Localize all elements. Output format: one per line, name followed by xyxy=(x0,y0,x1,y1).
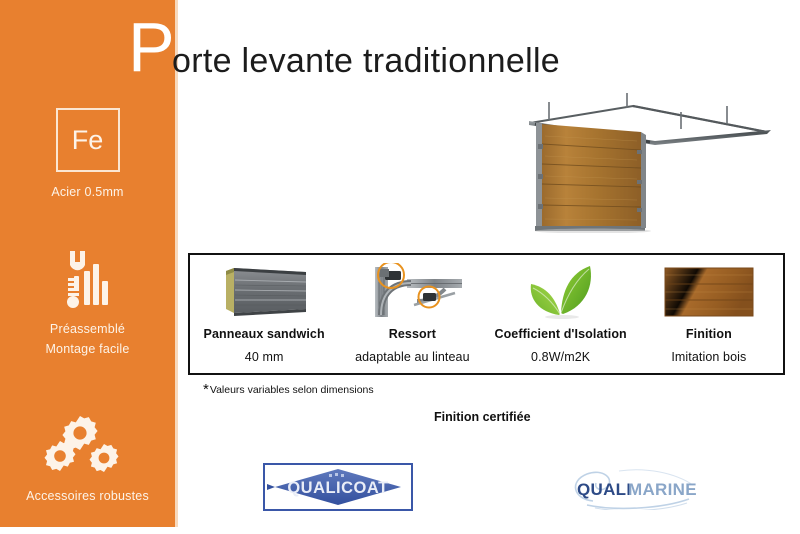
spring-mechanism-image xyxy=(359,261,465,323)
page-title-dropcap: P xyxy=(128,12,175,82)
qualicoat-logo: QUALICOAT xyxy=(263,463,413,511)
qualicoat-wordmark: QUALICOAT xyxy=(287,479,388,497)
page-title-text: orte levante traditionnelle xyxy=(172,44,560,78)
footnote: *Valeurs variables selon dimensions xyxy=(203,381,374,398)
sandwich-panel-swatch xyxy=(208,261,320,323)
sidebar-item-label-preassemble: Préassemblé xyxy=(0,319,175,339)
footnote-text: Valeurs variables selon dimensions xyxy=(210,384,374,396)
feature-value: 0.8W/m2K xyxy=(531,350,590,364)
green-leaves-icon xyxy=(522,261,600,323)
garage-sectional-door-image xyxy=(505,88,790,233)
wrench-tools-icon xyxy=(0,245,175,311)
qualimarine-wordmark-light: MARINE xyxy=(628,480,697,499)
sidebar-item-preassemble[interactable]: Préassemblé Montage facile xyxy=(0,245,175,359)
feature-coefficient-isolation: Coefficient d'Isolation 0.8W/m2K xyxy=(487,255,635,373)
qualimarine-wordmark-bold: QUALI xyxy=(577,480,631,499)
feature-value: Imitation bois xyxy=(671,350,746,364)
feature-panneaux-sandwich: Panneaux sandwich 40 mm xyxy=(190,255,338,373)
feature-title: Ressort xyxy=(389,327,436,341)
sidebar-item-label-montage: Montage facile xyxy=(0,339,175,359)
sidebar-item-acier[interactable]: Fe Acier 0.5mm xyxy=(0,108,175,202)
qualimarine-logo: QUALI MARINE xyxy=(563,465,713,510)
fe-square-icon: Fe xyxy=(56,108,120,172)
sidebar-item-accessoires[interactable]: Accessoires robustes xyxy=(0,412,175,506)
certification-heading: Finition certifiée xyxy=(434,410,531,424)
feature-value: adaptable au linteau xyxy=(355,350,470,364)
feature-ressort: Ressort adaptable au linteau xyxy=(338,255,486,373)
feature-title: Panneaux sandwich xyxy=(204,327,325,341)
wood-texture-swatch xyxy=(662,261,756,323)
feature-title: Finition xyxy=(686,327,732,341)
feature-title: Coefficient d'Isolation xyxy=(494,327,626,341)
page-title: P orte levante traditionnelle xyxy=(128,18,688,80)
fe-symbol: Fe xyxy=(72,127,104,154)
sidebar-item-label-acier: Acier 0.5mm xyxy=(0,182,175,202)
feature-value: 40 mm xyxy=(245,350,284,364)
footnote-marker: * xyxy=(203,381,209,398)
sidebar-item-label-accessoires: Accessoires robustes xyxy=(0,486,175,506)
feature-finition: Finition Imitation bois xyxy=(635,255,783,373)
features-box: Panneaux sandwich 40 mm xyxy=(188,253,785,375)
gears-icon xyxy=(0,412,175,478)
